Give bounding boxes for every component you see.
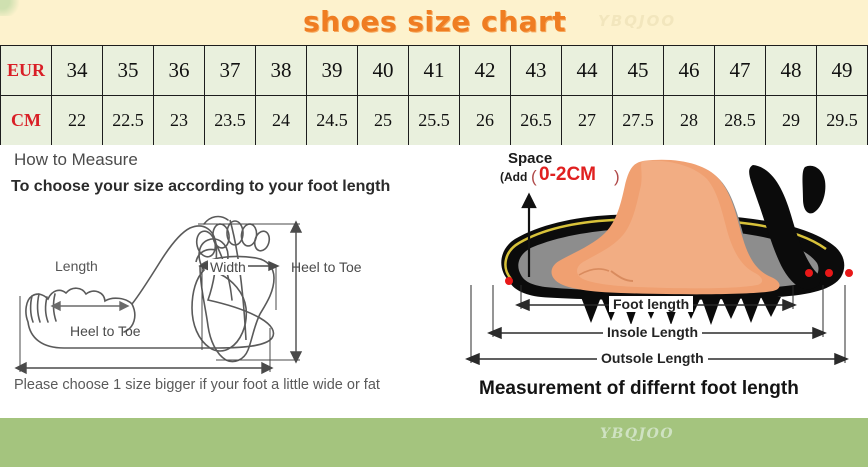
foot-measure-diagram bbox=[8, 200, 428, 375]
cell-cm-0: 22 bbox=[52, 96, 103, 146]
cell-cm-15: 29.5 bbox=[817, 96, 868, 146]
space-paren-close: ) bbox=[614, 167, 620, 187]
space-add-label: (Add bbox=[500, 170, 527, 184]
cell-cm-9: 26.5 bbox=[511, 96, 562, 146]
banner-watermark: YBQJOO bbox=[598, 12, 676, 30]
label-outsole-length: Outsole Length bbox=[597, 350, 708, 366]
cell-eur-9: 43 bbox=[511, 46, 562, 96]
cell-eur-7: 41 bbox=[409, 46, 460, 96]
cell-cm-14: 29 bbox=[766, 96, 817, 146]
label-heel-to-toe-vertical: Heel to Toe bbox=[291, 259, 362, 275]
cell-eur-15: 49 bbox=[817, 46, 868, 96]
diagram-area: How to Measure To choose your size accor… bbox=[0, 145, 868, 418]
foot-length-measurement-panel: Space (Add ( 0-2CM ) bbox=[455, 145, 868, 418]
foot-side-outline bbox=[26, 217, 274, 348]
label-insole-length: Insole Length bbox=[603, 324, 702, 340]
cell-cm-10: 27 bbox=[562, 96, 613, 146]
page-title: shoes size chart bbox=[303, 5, 566, 38]
table-row-cm: CM 22 22.5 23 23.5 24 24.5 25 25.5 26 26… bbox=[1, 96, 868, 146]
label-width: Width bbox=[208, 259, 248, 275]
how-to-measure-panel: How to Measure To choose your size accor… bbox=[0, 145, 455, 418]
cell-eur-10: 44 bbox=[562, 46, 613, 96]
cell-eur-1: 35 bbox=[103, 46, 154, 96]
cell-eur-4: 38 bbox=[256, 46, 307, 96]
row-label-eur: EUR bbox=[1, 46, 52, 96]
measurement-caption: Measurement of differnt foot length bbox=[479, 378, 799, 400]
cell-eur-8: 42 bbox=[460, 46, 511, 96]
label-length: Length bbox=[55, 258, 98, 274]
cell-eur-3: 37 bbox=[205, 46, 256, 96]
table-row-eur: EUR 34 35 36 37 38 39 40 41 42 43 44 45 … bbox=[1, 46, 868, 96]
size-advice-note: Please choose 1 size bigger if your foot… bbox=[14, 377, 380, 393]
corner-decoration bbox=[0, 0, 22, 16]
banner: shoes size chart YBQJOO bbox=[0, 0, 868, 45]
length-arrow bbox=[52, 302, 128, 310]
shoe-size-chart-image: shoes size chart YBQJOO EUR 34 35 36 37 … bbox=[0, 0, 868, 467]
footer-bar: YBQJOO bbox=[0, 418, 868, 467]
cell-cm-12: 28 bbox=[664, 96, 715, 146]
cell-eur-6: 40 bbox=[358, 46, 409, 96]
row-label-cm: CM bbox=[1, 96, 52, 146]
space-paren-open: ( bbox=[531, 167, 537, 187]
cell-eur-5: 39 bbox=[307, 46, 358, 96]
cell-cm-6: 25 bbox=[358, 96, 409, 146]
label-heel-to-toe-horizontal: Heel to Toe bbox=[70, 323, 141, 339]
size-table: EUR 34 35 36 37 38 39 40 41 42 43 44 45 … bbox=[0, 45, 868, 146]
cell-cm-2: 23 bbox=[154, 96, 205, 146]
how-to-measure-subheading: To choose your size according to your fo… bbox=[11, 178, 390, 196]
cell-eur-2: 36 bbox=[154, 46, 205, 96]
heel-to-toe-vertical-arrow bbox=[198, 222, 301, 362]
cell-eur-0: 34 bbox=[52, 46, 103, 96]
cell-cm-8: 26 bbox=[460, 96, 511, 146]
how-to-measure-heading: How to Measure bbox=[14, 150, 138, 170]
cell-cm-7: 25.5 bbox=[409, 96, 460, 146]
cell-eur-14: 48 bbox=[766, 46, 817, 96]
cell-cm-1: 22.5 bbox=[103, 96, 154, 146]
cell-cm-4: 24 bbox=[256, 96, 307, 146]
size-table-container: EUR 34 35 36 37 38 39 40 41 42 43 44 45 … bbox=[0, 45, 868, 145]
width-arrow bbox=[200, 262, 278, 350]
cell-eur-12: 46 bbox=[664, 46, 715, 96]
cell-eur-13: 47 bbox=[715, 46, 766, 96]
shoe-collar-tab bbox=[803, 166, 826, 214]
cell-cm-5: 24.5 bbox=[307, 96, 358, 146]
cell-cm-13: 28.5 bbox=[715, 96, 766, 146]
foot-sole-outline bbox=[192, 221, 274, 362]
label-foot-length: Foot length bbox=[609, 296, 693, 312]
space-range-value: 0-2CM bbox=[539, 164, 596, 186]
footer-watermark: YBQJOO bbox=[600, 426, 674, 442]
cell-cm-3: 23.5 bbox=[205, 96, 256, 146]
cell-cm-11: 27.5 bbox=[613, 96, 664, 146]
cell-eur-11: 45 bbox=[613, 46, 664, 96]
